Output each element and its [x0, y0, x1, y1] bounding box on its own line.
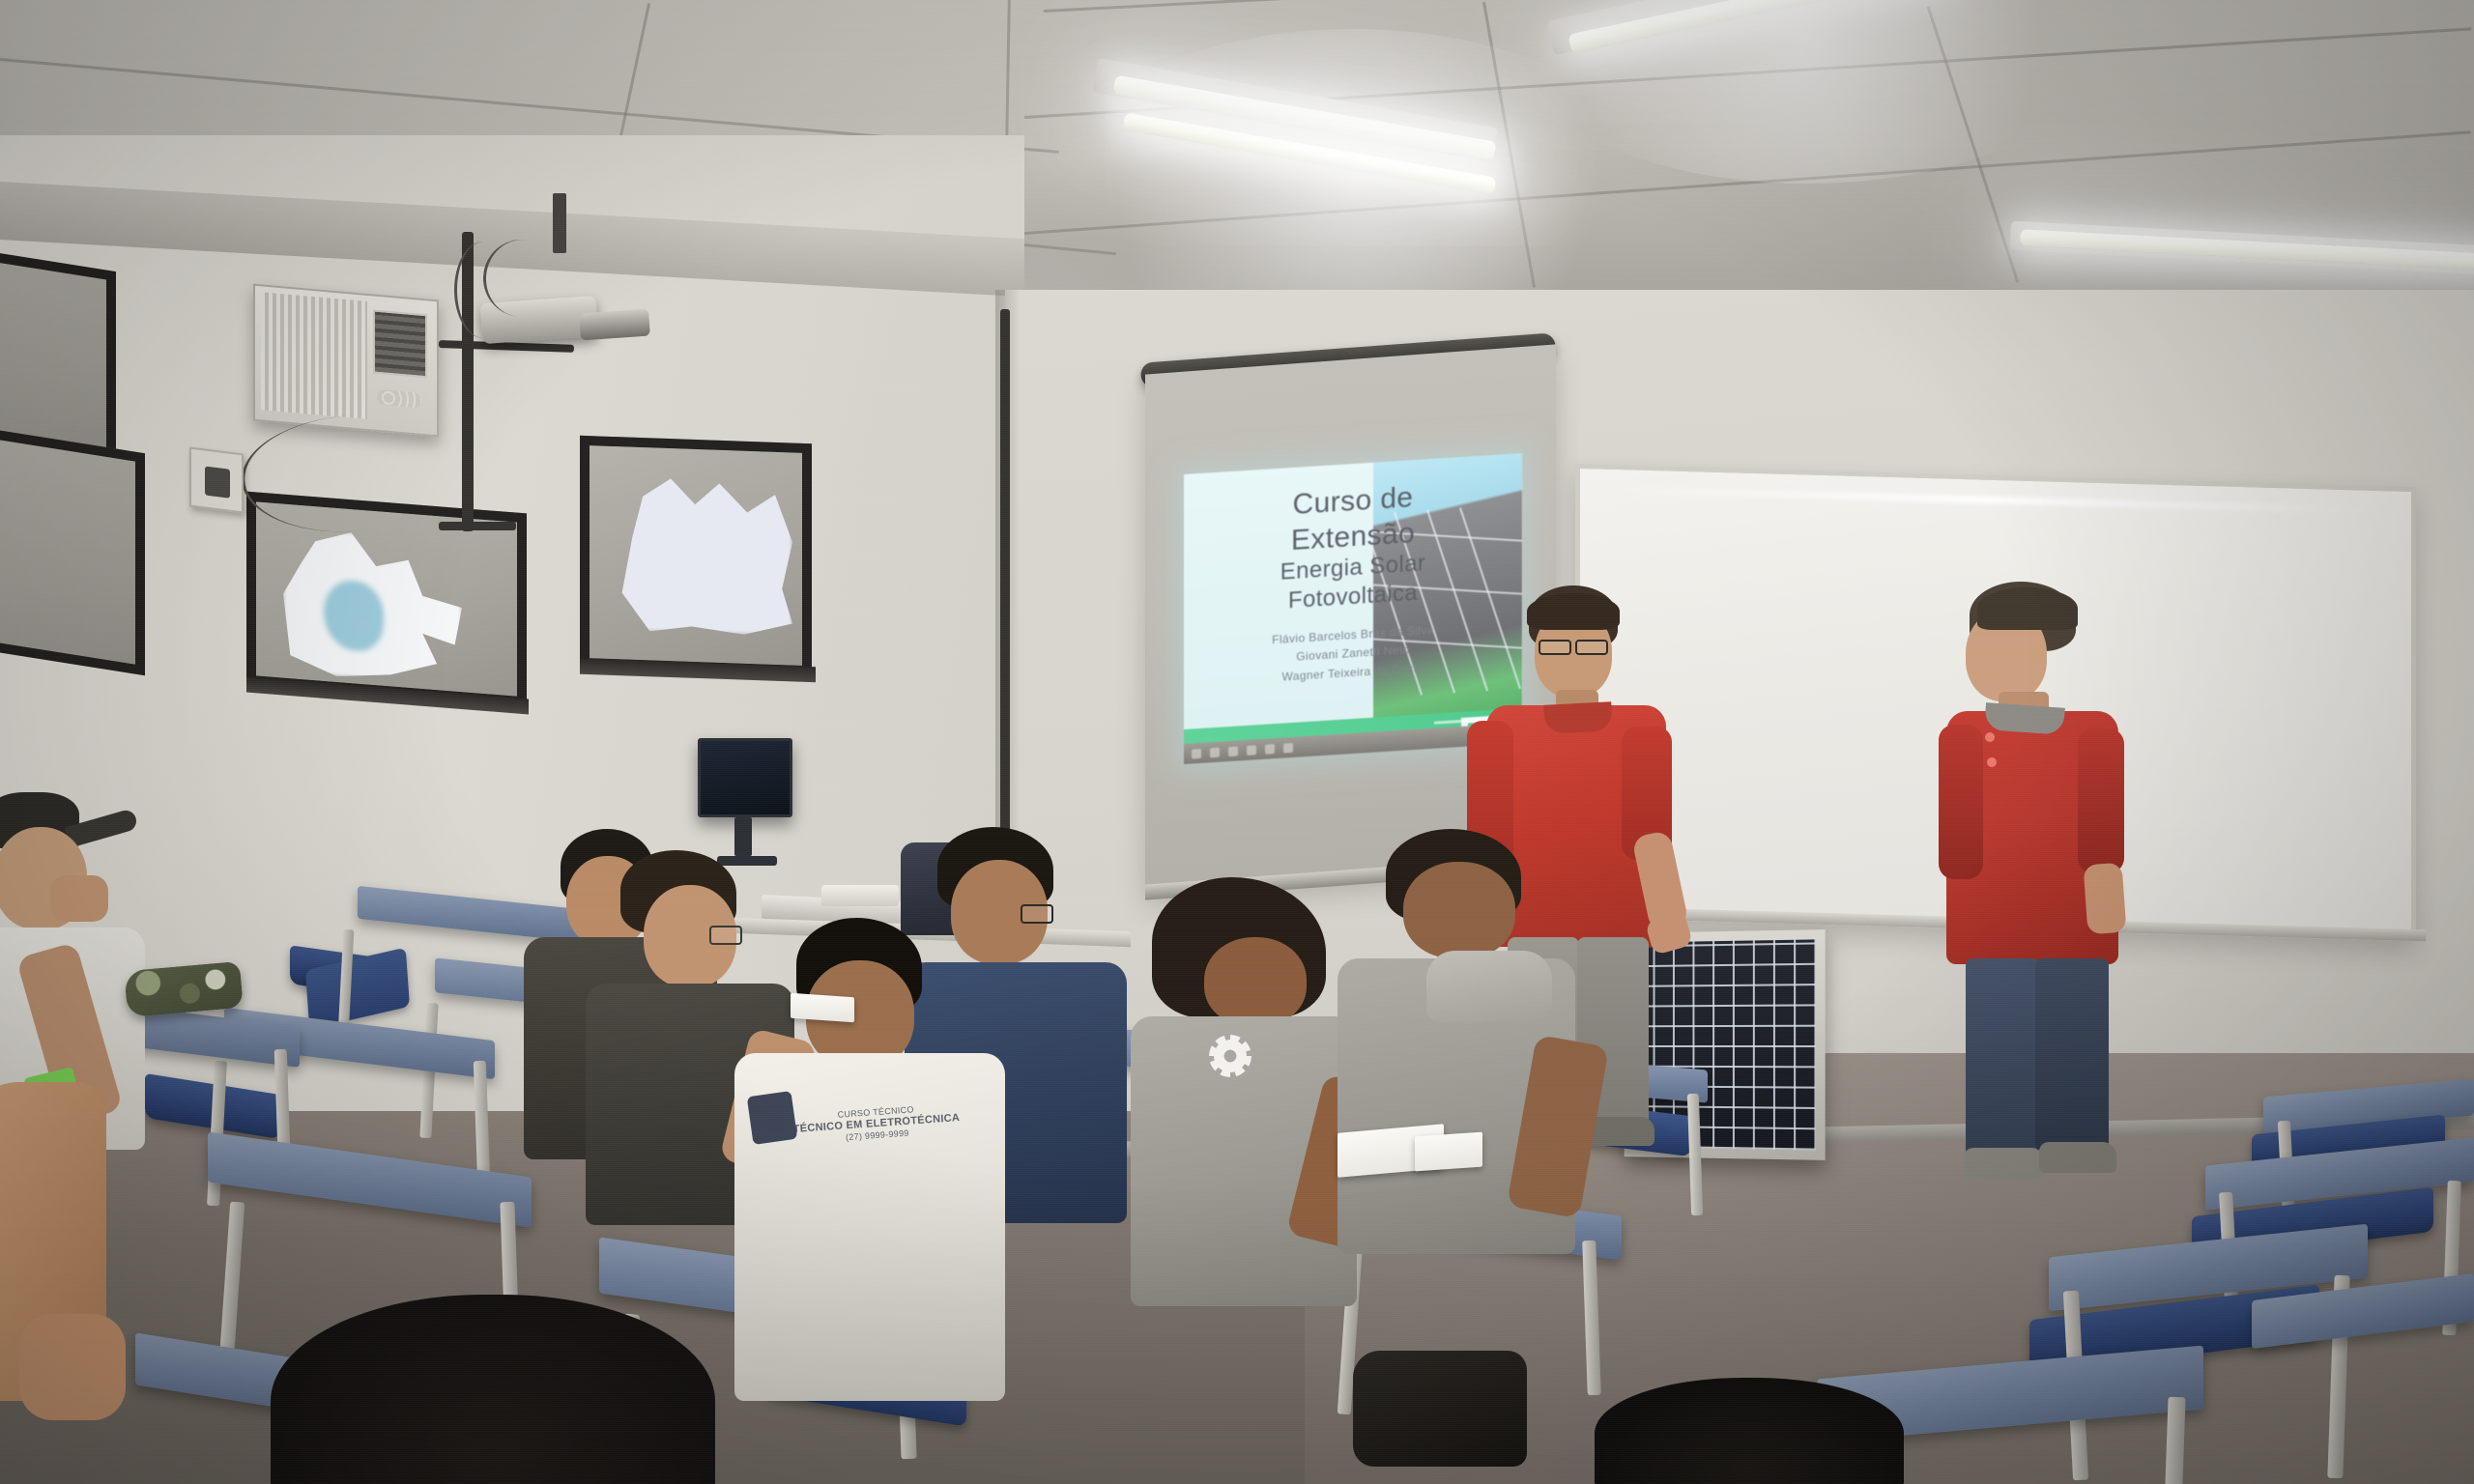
- taskbar-icon[interactable]: [1265, 744, 1275, 755]
- electrical-box[interactable]: [189, 447, 244, 514]
- monitor-stand: [734, 817, 752, 856]
- electrical-conduit: [439, 522, 516, 530]
- notebook[interactable]: [791, 993, 854, 1023]
- projector-mount-pole: [553, 193, 566, 253]
- presenter-2-forearm: [2084, 863, 2127, 935]
- air-conditioner: [253, 284, 439, 438]
- presenter-1-glasses: [1575, 640, 1608, 655]
- electrical-conduit: [1000, 309, 1010, 850]
- student-glasses-eyewear: [709, 926, 742, 945]
- window: [580, 436, 812, 675]
- presenter-2-jeans: [2035, 958, 2109, 1152]
- presenter-2-arm: [1939, 725, 1983, 879]
- ac-vent: [373, 309, 427, 378]
- desk-tray-item: [821, 885, 899, 906]
- backpack-on-floor: [1353, 1351, 1527, 1467]
- student-navy-eyewear: [1021, 904, 1053, 924]
- hoodie-hood: [1426, 951, 1552, 1022]
- ac-knobs: [377, 389, 421, 409]
- presenter-2-shoe: [2039, 1142, 2116, 1173]
- presenter-1-glasses: [1539, 640, 1571, 655]
- window-glass: [0, 437, 135, 664]
- presenter-2-polo-button: [1987, 757, 1997, 767]
- window: [0, 426, 145, 676]
- taskbar-icon[interactable]: [1247, 745, 1256, 756]
- presenter-2-jeans: [1966, 958, 2039, 1157]
- taskbar-icon[interactable]: [1228, 746, 1238, 756]
- gear-logo-icon: [1214, 1040, 1247, 1072]
- student-cap-hands: [50, 875, 108, 922]
- shirt-shoulder-logo: [747, 1091, 798, 1145]
- window-glass: [0, 261, 106, 453]
- desk-leg: [2165, 1397, 2185, 1484]
- student-foreground-left-hand: [19, 1314, 126, 1420]
- presenter-1-hair: [1527, 593, 1620, 630]
- classroom-photo: Curso de Extensão Energia Solar Fotovolt…: [0, 0, 2474, 1484]
- outlet-socket[interactable]: [205, 467, 230, 499]
- taskbar-icon[interactable]: [1210, 747, 1220, 757]
- student-gear-tee-head: [1204, 937, 1307, 1026]
- slide: Curso de Extensão Energia Solar Fotovolt…: [1184, 453, 1522, 764]
- taskbar-icon[interactable]: [1192, 748, 1201, 758]
- computer-monitor[interactable]: [698, 738, 792, 817]
- presenter-2-arm: [2078, 728, 2124, 873]
- presenter-2-hair: [1977, 587, 2078, 630]
- taskbar-icon[interactable]: [1283, 742, 1293, 753]
- projector-lens: [579, 309, 650, 341]
- ac-grille: [261, 292, 367, 419]
- student-foreground-right-head: [1595, 1378, 1904, 1484]
- monitor-base: [717, 856, 777, 866]
- presenter-2-shoe: [1964, 1148, 2045, 1179]
- student-foreground-head: [271, 1295, 715, 1484]
- presenter-2-polo-button: [1985, 732, 1995, 742]
- notebook[interactable]: [1415, 1132, 1482, 1172]
- student-hoodie-head: [1403, 862, 1515, 958]
